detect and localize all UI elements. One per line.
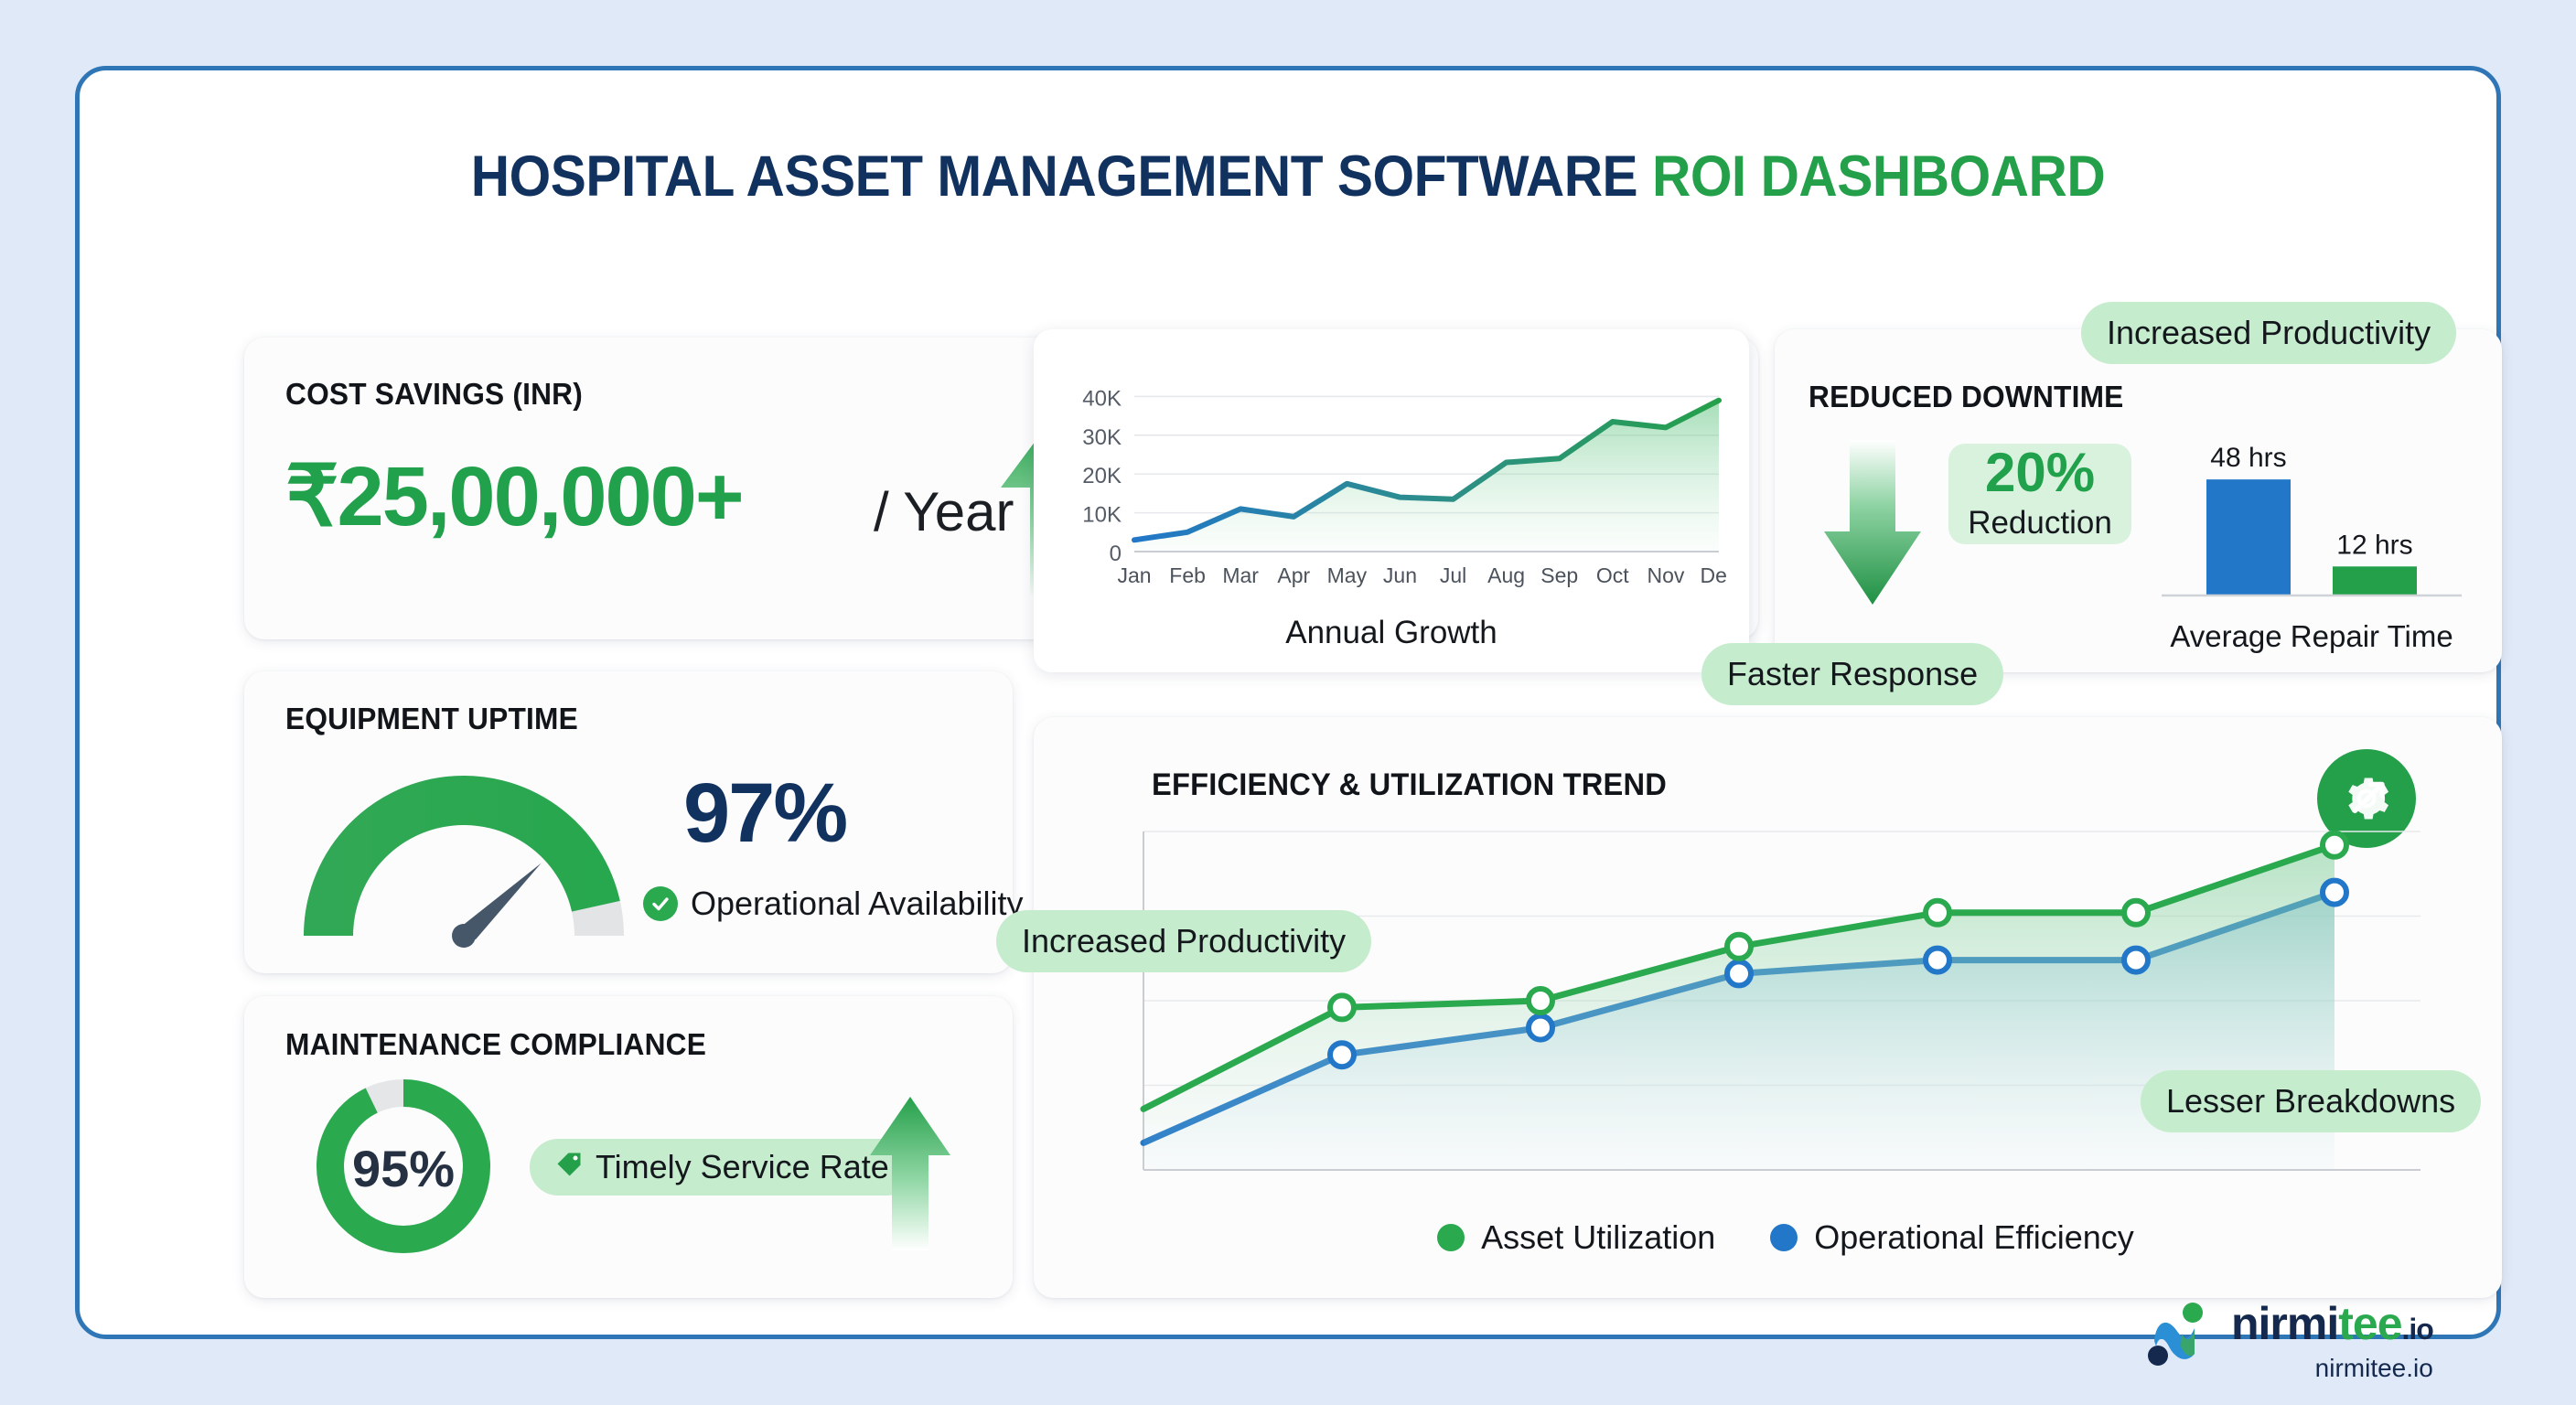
svg-text:Dec: Dec: [1701, 563, 1726, 587]
svg-text:10K: 10K: [1082, 503, 1122, 528]
callout-lesser-breakdowns: Lesser Breakdowns: [2141, 1070, 2481, 1132]
logo-subtitle: nirmitee.io: [2231, 1354, 2433, 1383]
trend-legend: Asset Utilization Operational Efficiency: [1136, 1218, 2435, 1257]
svg-text:Sep: Sep: [1540, 563, 1578, 587]
infographic-root: HOSPITAL ASSET MANAGEMENT SOFTWARE ROI D…: [0, 0, 2576, 1405]
legend-label-operational-efficiency: Operational Efficiency: [1814, 1218, 2134, 1257]
equipment-uptime-value: 97%: [683, 766, 846, 862]
svg-text:Jan: Jan: [1117, 563, 1151, 587]
svg-text:May: May: [1327, 563, 1368, 587]
cost-savings-unit: / Year: [874, 480, 1014, 543]
check-circle-icon: [643, 886, 678, 921]
tag-icon: [555, 1148, 583, 1186]
svg-text:Apr: Apr: [1277, 563, 1310, 587]
timely-service-rate-label: Timely Service Rate: [596, 1148, 889, 1186]
timely-service-rate-tag: Timely Service Rate: [530, 1139, 915, 1196]
logo-text-part3: .io: [2402, 1313, 2433, 1346]
legend-label-asset-utilization: Asset Utilization: [1481, 1218, 1715, 1257]
callout-faster-response: Faster Response: [1701, 643, 2003, 705]
svg-text:Mar: Mar: [1222, 563, 1259, 587]
svg-text:12 hrs: 12 hrs: [2336, 530, 2412, 560]
arrow-down-icon: [1822, 440, 1923, 605]
svg-text:Feb: Feb: [1169, 563, 1206, 587]
arrow-up-icon: [868, 1097, 952, 1250]
logo-text-part2: tee: [2338, 1298, 2401, 1349]
nirmitee-mark-icon: [2145, 1301, 2216, 1371]
page-title: HOSPITAL ASSET MANAGEMENT SOFTWARE ROI D…: [164, 144, 2411, 209]
annual-growth-chart: 010K20K30K40KJanFebMarAprMayJunJulAugSep…: [1063, 380, 1726, 599]
equipment-uptime-title: EQUIPMENT UPTIME: [285, 702, 578, 736]
callout-increased-productivity-top: Increased Productivity: [2081, 302, 2456, 364]
annual-growth-caption: Annual Growth: [1034, 615, 1749, 651]
svg-text:Nov: Nov: [1647, 563, 1684, 587]
reduction-badge: 20% Reduction: [1948, 444, 2131, 544]
dashboard-frame: HOSPITAL ASSET MANAGEMENT SOFTWARE ROI D…: [75, 66, 2501, 1339]
logo: nirmitee.io nirmitee.io: [2145, 1301, 2433, 1383]
logo-text: nirmitee.io: [2231, 1301, 2433, 1346]
svg-text:40K: 40K: [1082, 386, 1122, 411]
equipment-uptime-subtitle: Operational Availability: [643, 885, 1024, 923]
legend-item-asset-utilization: Asset Utilization: [1437, 1218, 1715, 1257]
svg-text:Jun: Jun: [1383, 563, 1417, 587]
legend-dot-blue: [1770, 1224, 1798, 1251]
uptime-gauge: [290, 756, 638, 949]
logo-text-part1: nirmi: [2231, 1298, 2338, 1349]
average-repair-time-caption: Average Repair Time: [2156, 619, 2467, 654]
svg-text:48 hrs: 48 hrs: [2210, 443, 2286, 473]
efficiency-trend-title: EFFICIENCY & UTILIZATION TREND: [1152, 767, 1667, 803]
equipment-uptime-subtitle-text: Operational Availability: [691, 885, 1024, 923]
cost-savings-title: COST SAVINGS (INR): [285, 377, 583, 412]
compliance-donut-value: 95%: [306, 1139, 500, 1198]
legend-item-operational-efficiency: Operational Efficiency: [1770, 1218, 2134, 1257]
callout-increased-productivity-trend: Increased Productivity: [996, 910, 1371, 972]
reduction-label: Reduction: [1968, 504, 2112, 542]
maintenance-compliance-title: MAINTENANCE COMPLIANCE: [285, 1027, 706, 1062]
svg-text:20K: 20K: [1082, 464, 1122, 488]
svg-text:Jul: Jul: [1440, 563, 1466, 587]
average-repair-time-chart: 48 hrs12 hrs: [2156, 418, 2467, 601]
page-title-dark: HOSPITAL ASSET MANAGEMENT SOFTWARE: [471, 145, 1637, 209]
reduced-downtime-title: REDUCED DOWNTIME: [1809, 380, 2124, 414]
reduction-percent: 20%: [1985, 445, 2095, 500]
svg-text:30K: 30K: [1082, 425, 1122, 450]
svg-text:Oct: Oct: [1596, 563, 1629, 587]
svg-text:0: 0: [1110, 542, 1122, 566]
cost-savings-value: ₹25,00,000+: [285, 447, 743, 545]
page-title-green: ROI DASHBOARD: [1652, 145, 2105, 209]
svg-text:Aug: Aug: [1487, 563, 1525, 587]
legend-dot-green: [1437, 1224, 1465, 1251]
